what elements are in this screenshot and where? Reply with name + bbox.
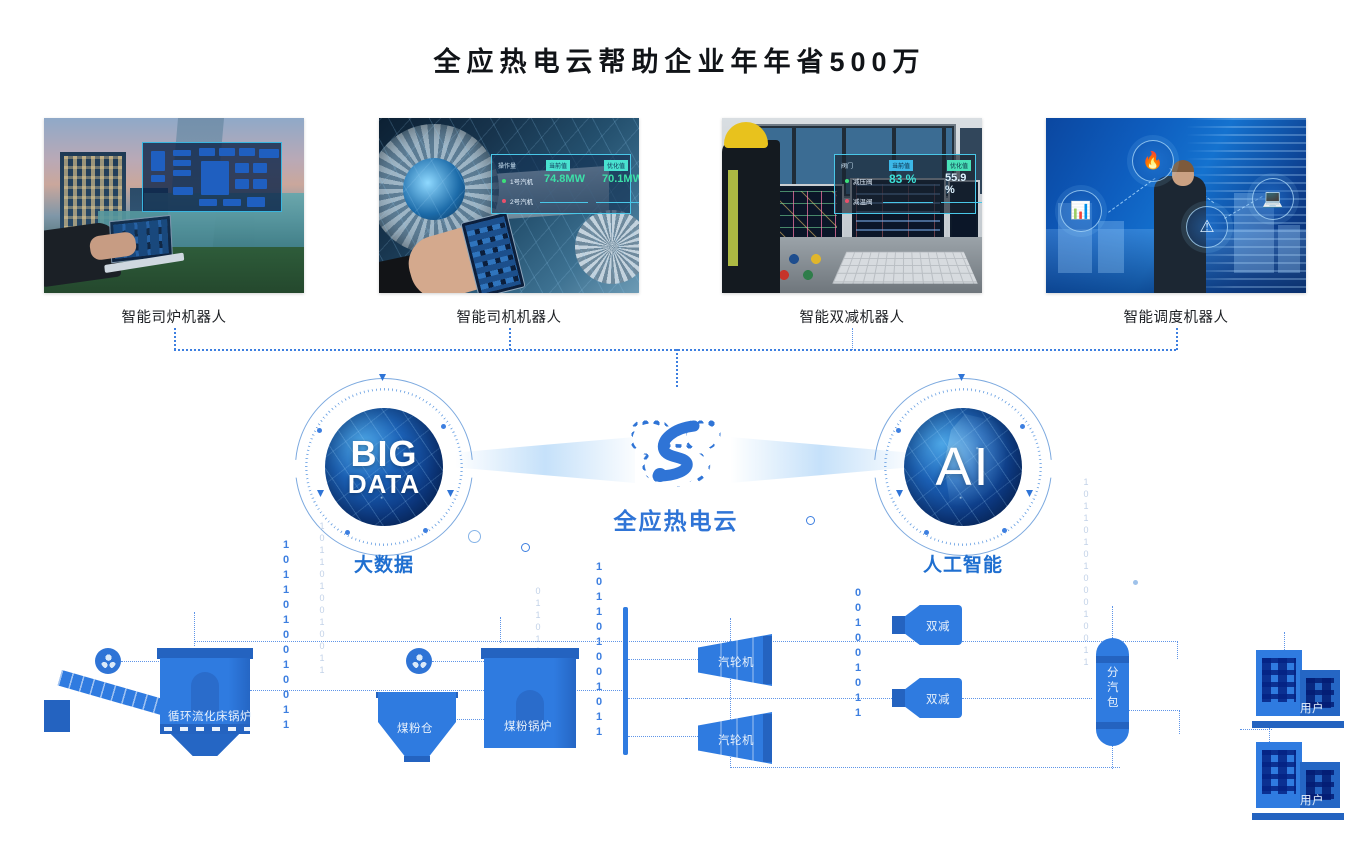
silo-top (378, 692, 456, 722)
overlay-col-optimized: 优化值 (947, 160, 971, 171)
page-title: 全应热电云帮助企业年年省500万 (0, 40, 1359, 79)
big-data-line1: BIG (350, 437, 417, 472)
cloud-icon[interactable] (596, 396, 756, 508)
equipment-label: 双减 (926, 618, 950, 634)
drum-band-top (1096, 656, 1129, 663)
marker-dot (345, 530, 350, 535)
valve-data-overlay: 阀门 当前值 优化值 减压阀 83 % 55.9 % 减温阀 (834, 154, 976, 214)
decor-ring (468, 530, 481, 543)
wire-drum-bottom (1112, 745, 1113, 769)
equipment-label: 汽轮机 (718, 654, 754, 670)
overlay-value-current: 83 % (889, 172, 916, 186)
wire-drum-top (1112, 606, 1113, 638)
ai-label: AI (935, 436, 990, 498)
wire-to-valve2 (686, 698, 906, 699)
sparkline-2 (596, 202, 639, 203)
equipment-label: 用户 (1300, 700, 1324, 716)
wire-valve2-to-drum (962, 698, 1092, 699)
binary-column-left-faint: 1011010010011 (317, 520, 327, 676)
decor-ring (806, 516, 815, 525)
building-windows (1262, 658, 1296, 702)
infographic-canvas: 全应热电云帮助企业年年省500万 (0, 0, 1359, 842)
coal-silo[interactable]: 煤粉仓 (378, 692, 456, 756)
connector-drop-1 (174, 328, 176, 350)
marker-dot (896, 428, 901, 433)
overlay-value-optimized: 70.1MW (602, 173, 639, 185)
dual-reduction-valve-1[interactable]: 双减 (892, 605, 962, 645)
sparkline (540, 202, 588, 203)
binary-column-right-strong: 001001011 (853, 586, 863, 721)
overlay-col-optimized: 优化值 (604, 160, 628, 171)
ai-sphere: AI (904, 408, 1022, 526)
keyboard (832, 252, 977, 284)
marker-dot (423, 528, 428, 533)
overlay-row-header: 操作量 (498, 161, 516, 170)
connector-bus-top (174, 349, 1176, 351)
wire-user1-drop (1177, 641, 1178, 659)
flame-icon: 🔥 (1132, 140, 1174, 182)
wire-drum-out (1128, 710, 1180, 711)
wire-header-to-turbine2 (628, 736, 698, 737)
turbine-2[interactable]: 汽轮机 (698, 712, 774, 764)
overlay-col-current: 当前值 (546, 160, 570, 171)
photo-card-boiler-robot[interactable] (44, 118, 304, 293)
overlay-value-optimized: 55.9 % (945, 172, 975, 196)
drum-band-bottom (1096, 722, 1129, 729)
building-base (1252, 721, 1344, 728)
wire-user2-feed-h (1240, 729, 1272, 730)
safety-vest-stripe (728, 170, 738, 266)
connector-drop-3 (852, 328, 853, 350)
photo-label-boiler-robot: 智能司炉机器人 (24, 306, 324, 327)
marker-dot (1002, 528, 1007, 533)
binary-column-right-faint: 1011010100010011 (1081, 476, 1091, 668)
big-data-sphere: BIG DATA (325, 408, 443, 526)
connector-bus-to-cloud (676, 349, 678, 387)
cooling-tower (1098, 221, 1124, 273)
marker-dot (924, 530, 929, 535)
wire-fuel-to-pulv (432, 661, 484, 662)
boiler-hopper (171, 734, 239, 756)
marker-dot (441, 424, 446, 429)
overlay-row-name: 1号汽机 (510, 176, 533, 186)
sparkline-2 (941, 202, 982, 203)
decor-dot (1133, 580, 1138, 585)
chart-search-icon: 📊 (1060, 190, 1102, 232)
cloud-caption: 全应热电云 (556, 502, 796, 536)
building-windows (1262, 750, 1296, 794)
marker-dot (317, 428, 322, 433)
equipment-label: 用户 (1300, 792, 1324, 808)
big-data-node[interactable]: BIG DATA (305, 388, 463, 546)
boiler-grate (160, 724, 250, 734)
wire-pulv-drop (500, 617, 501, 643)
equipment-label: 循环流化床锅炉 (168, 708, 252, 724)
ai-node[interactable]: AI (884, 388, 1042, 546)
user-building-1[interactable]: 用户 (1256, 650, 1346, 722)
wire-user1-feed (1284, 632, 1285, 650)
ai-caption: 人工智能 (863, 550, 1063, 577)
turbine-data-overlay: 操作量 当前值 优化值 1号汽机 74.8MW 70.1MW 2号汽机 (491, 154, 631, 214)
wire-silo-to-boiler (452, 719, 484, 720)
steam-distribution-drum[interactable]: 分汽包 (1096, 638, 1129, 746)
boiler-body (484, 658, 576, 748)
big-data-caption: 大数据 (284, 550, 484, 577)
alarm-icon: ⚠ (1186, 206, 1228, 248)
steam-header-pipe (623, 607, 628, 755)
overlay-col-current: 当前值 (889, 160, 913, 171)
overlay-row-header: 阀门 (841, 161, 853, 170)
user-building-2[interactable]: 用户 (1256, 742, 1346, 814)
photo-label-dispatch-robot: 智能调度机器人 (1026, 306, 1326, 327)
cfb-boiler[interactable]: 循环流化床锅炉 (160, 648, 250, 756)
overlay-row-name: 减压阀 (853, 176, 873, 186)
status-dot-red (845, 199, 849, 203)
overlay-row-name-2: 减温阀 (853, 196, 873, 206)
dual-reduction-valve-2[interactable]: 双减 (892, 678, 962, 718)
fuel-icon[interactable] (95, 648, 121, 674)
monitor-wave-icon: 💻 (1252, 178, 1294, 220)
wire-valve1-out (962, 641, 1178, 642)
wire-user2-drop (1179, 710, 1180, 734)
equipment-label: 汽轮机 (718, 732, 754, 748)
building-base (1252, 813, 1344, 820)
big-data-line2: DATA (348, 472, 420, 497)
equipment-label: 分汽包 (1107, 666, 1119, 711)
binary-column-left-strong: 1011010010011 (281, 538, 291, 733)
connector-drop-2 (509, 328, 511, 350)
equipment-label: 煤粉锅炉 (504, 718, 552, 734)
status-dot-green (845, 179, 849, 183)
marker-dot (1020, 424, 1025, 429)
photo-card-turbine-robot[interactable]: 操作量 当前值 优化值 1号汽机 74.8MW 70.1MW 2号汽机 (379, 118, 639, 293)
turbine-teeth (763, 714, 772, 762)
status-dot-green (502, 179, 506, 183)
hmi-overlay-panel (142, 142, 282, 212)
photo-card-dispatch-robot[interactable]: 🔥 📊 ⚠ 💻 (1046, 118, 1306, 293)
wire-header-to-turbine1 (628, 659, 698, 660)
binary-column-mid-strong: 101101001011 (594, 560, 604, 740)
equipment-label: 双减 (926, 691, 950, 707)
sparkline (883, 202, 933, 203)
photo-label-turbine-robot: 智能司机机器人 (359, 306, 659, 327)
pulverized-coal-boiler[interactable]: 煤粉锅炉 (484, 648, 576, 748)
status-dot-red (502, 199, 506, 203)
boiler-door (191, 672, 219, 712)
silo-foot (404, 756, 431, 762)
turbine-teeth (763, 636, 772, 684)
wire-bottom-bus (730, 767, 1120, 768)
overlay-row-name-2: 2号汽机 (510, 196, 533, 206)
equipment-label: 煤粉仓 (397, 720, 433, 736)
turbine-1[interactable]: 汽轮机 (698, 634, 774, 686)
overlay-value-current: 74.8MW (544, 173, 585, 185)
connector-drop-4 (1176, 328, 1178, 350)
wire-fuel-to-cfb (121, 661, 161, 662)
photo-label-valve-robot: 智能双减机器人 (702, 306, 1002, 327)
conveyor-inlet (44, 700, 70, 732)
fuel-icon[interactable] (406, 648, 432, 674)
decor-ring (521, 543, 530, 552)
photo-card-valve-robot[interactable]: 阀门 当前值 优化值 减压阀 83 % 55.9 % 减温阀 (722, 118, 982, 293)
cloud-s-glyph (640, 420, 712, 486)
